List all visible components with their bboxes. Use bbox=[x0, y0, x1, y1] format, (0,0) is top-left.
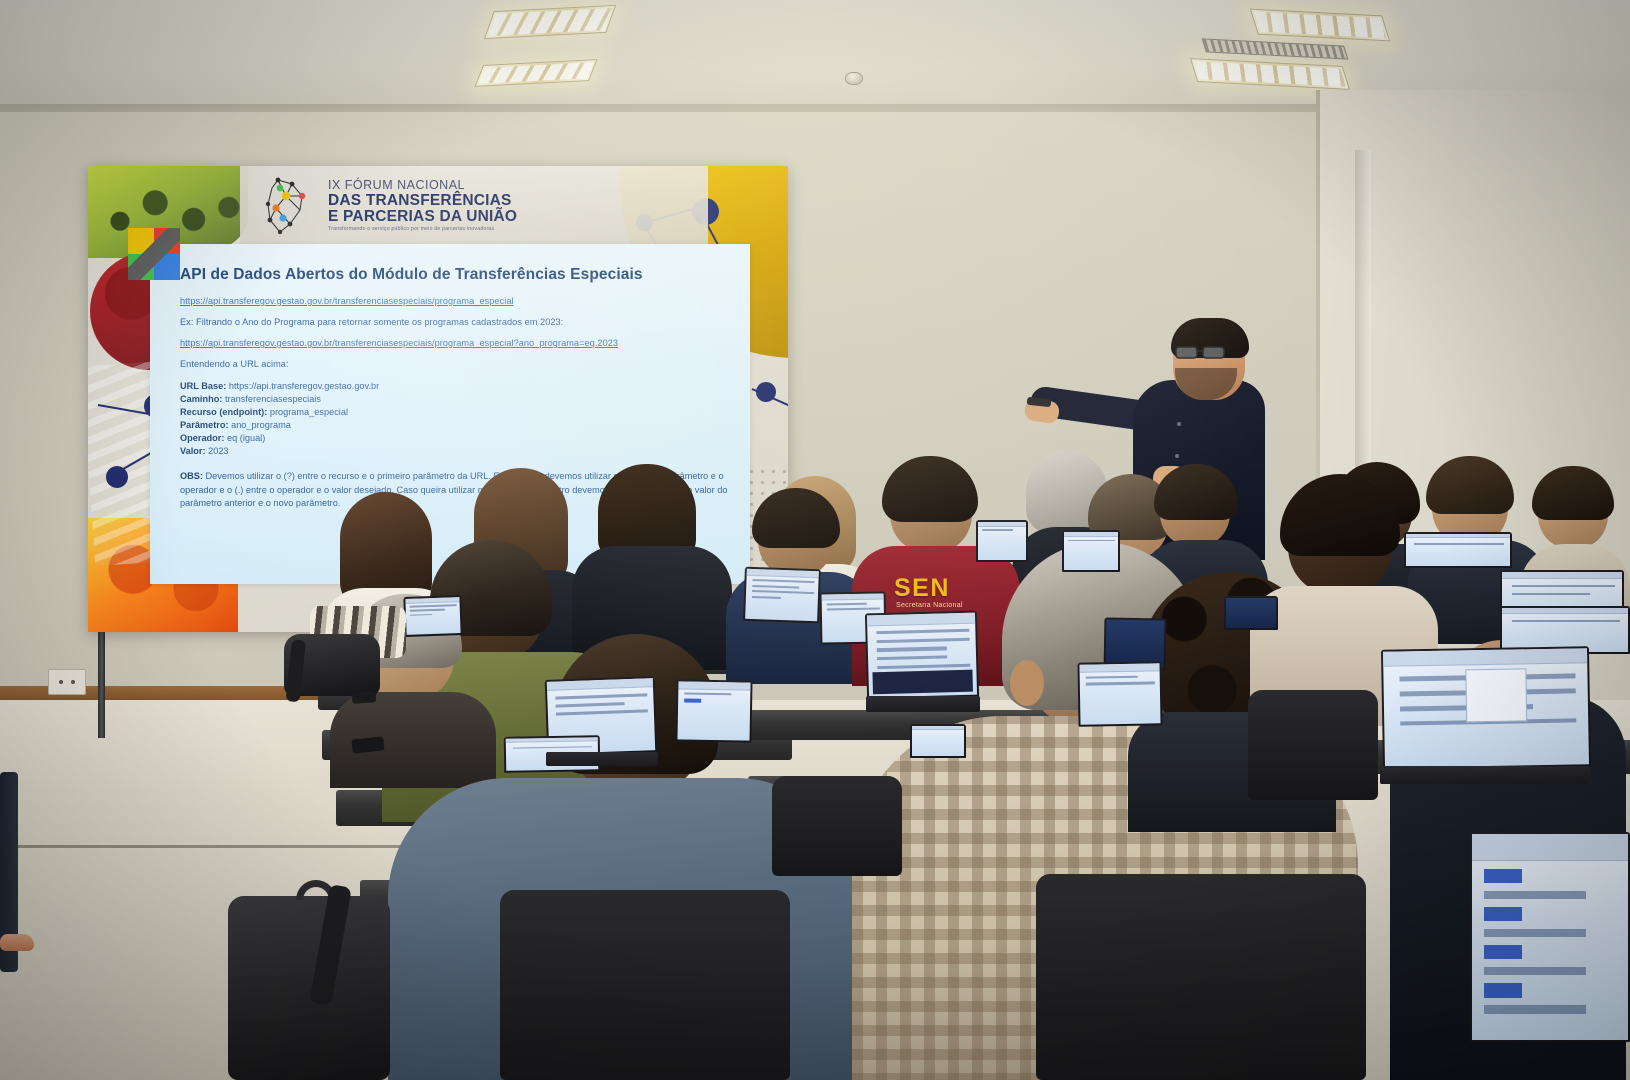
screen-text-line bbox=[1484, 1005, 1585, 1013]
explain-header: Entendendo a URL acima: bbox=[180, 359, 728, 369]
definition-row: URL Base: https://api.transferegov.gesta… bbox=[180, 380, 728, 393]
definition-row: Operador: eq (igual) bbox=[180, 432, 728, 445]
laptop-screen bbox=[1226, 598, 1276, 628]
screen-button bbox=[1484, 907, 1521, 921]
definition-label: Operador: bbox=[180, 433, 224, 443]
smartphone[interactable] bbox=[352, 691, 377, 704]
laptop-lid bbox=[910, 724, 966, 758]
laptop-screen bbox=[1406, 534, 1510, 566]
laptop-screen bbox=[745, 569, 819, 621]
brazil-network-map-icon bbox=[256, 174, 318, 238]
participant-hair bbox=[752, 488, 840, 548]
screen-text-line bbox=[827, 603, 867, 606]
definition-label: Recurso (endpoint): bbox=[180, 407, 267, 417]
laptop-lid bbox=[675, 679, 752, 742]
screen-button bbox=[684, 699, 701, 703]
laptop[interactable] bbox=[403, 595, 462, 637]
laptop-lid bbox=[865, 611, 979, 700]
banner-line-2: DAS TRANSFERÊNCIAS bbox=[328, 193, 517, 209]
definition-value: 2023 bbox=[208, 446, 228, 456]
definition-label: Parâmetro: bbox=[180, 420, 229, 430]
screen-button bbox=[1484, 983, 1521, 997]
browser-toolbar bbox=[747, 569, 819, 578]
laptop-screen bbox=[677, 681, 750, 740]
browser-toolbar bbox=[1502, 572, 1622, 579]
browser-toolbar bbox=[1383, 648, 1587, 667]
screen-text-line bbox=[1484, 967, 1585, 975]
browser-toolbar bbox=[978, 522, 1026, 527]
smoke-detector bbox=[845, 72, 863, 85]
wall-outlet bbox=[48, 669, 86, 695]
laptop[interactable] bbox=[976, 520, 1028, 562]
laptop-lid bbox=[1062, 530, 1120, 572]
banner-line-3: E PARCERIAS DA UNIÃO bbox=[328, 209, 517, 225]
screen-text-line bbox=[752, 596, 781, 599]
office-chair[interactable] bbox=[500, 890, 790, 1080]
laptop-lid bbox=[743, 567, 821, 624]
office-chair[interactable] bbox=[1248, 690, 1378, 800]
office-chair[interactable] bbox=[1036, 874, 1366, 1080]
screen-text-line bbox=[752, 579, 814, 583]
screen-text-line bbox=[876, 637, 969, 643]
terminal-panel bbox=[873, 670, 973, 694]
four-color-square-logo-icon bbox=[128, 228, 180, 280]
laptop-lid bbox=[1224, 596, 1278, 630]
laptop[interactable] bbox=[865, 611, 979, 700]
standing-person-shoe bbox=[0, 934, 34, 951]
definition-row: Recurso (endpoint): programa_especial bbox=[180, 406, 728, 419]
definition-value: https://api.transferegov.gestao.gov.br bbox=[229, 381, 379, 391]
laptop-screen bbox=[1064, 532, 1118, 570]
screen-text-line bbox=[877, 655, 947, 660]
laptop-keyboard[interactable] bbox=[546, 752, 658, 766]
definition-value: transferenciasespeciais bbox=[225, 394, 321, 404]
browser-toolbar bbox=[506, 737, 598, 743]
definition-label: Caminho: bbox=[180, 394, 222, 404]
shirt-button bbox=[1175, 454, 1179, 458]
definition-value: eq (igual) bbox=[227, 433, 265, 443]
screen-text-line bbox=[1086, 682, 1155, 686]
definition-label: URL Base: bbox=[180, 381, 226, 391]
example-description: Ex: Filtrando o Ano do Programa para ret… bbox=[180, 317, 728, 327]
browser-toolbar bbox=[1064, 532, 1118, 537]
laptop[interactable] bbox=[910, 724, 966, 758]
dialog-popup bbox=[1465, 668, 1527, 722]
network-node bbox=[756, 382, 776, 402]
glasses-icon bbox=[1175, 345, 1231, 359]
definition-value: ano_programa bbox=[231, 420, 291, 430]
conference-room-photo: TRANSFEREGOV bbox=[0, 0, 1630, 1080]
browser-toolbar bbox=[1406, 534, 1510, 538]
laptop[interactable] bbox=[675, 679, 752, 742]
screen-text-line bbox=[1414, 543, 1503, 544]
laptop-lid bbox=[1404, 532, 1512, 568]
screen-text-line bbox=[1068, 540, 1114, 542]
screen-text-line bbox=[827, 608, 880, 611]
laptop[interactable] bbox=[743, 567, 821, 624]
screen-text-line bbox=[876, 647, 946, 652]
browser-toolbar bbox=[1079, 663, 1159, 672]
browser-toolbar bbox=[912, 726, 964, 730]
laptop-screen bbox=[1472, 834, 1628, 1040]
screen-text-line bbox=[513, 746, 592, 749]
banner-text-block: IX FÓRUM NACIONAL DAS TRANSFERÊNCIAS E P… bbox=[328, 179, 517, 232]
screen-text-line bbox=[1086, 675, 1138, 678]
laptop-keyboard[interactable] bbox=[1380, 766, 1590, 784]
screen-text-line bbox=[1512, 620, 1620, 622]
laptop[interactable] bbox=[1404, 532, 1512, 568]
participant-hair bbox=[1280, 474, 1400, 556]
laptop[interactable] bbox=[1470, 832, 1630, 1042]
browser-toolbar bbox=[867, 613, 975, 626]
screen-text-line bbox=[410, 614, 432, 616]
backpack[interactable] bbox=[228, 896, 390, 1080]
laptop-screen bbox=[867, 613, 977, 698]
screen-text-line bbox=[1512, 585, 1615, 587]
screen-button bbox=[1484, 945, 1521, 959]
participant-hair bbox=[1154, 464, 1238, 520]
screen-text-line bbox=[556, 709, 647, 715]
participant-hair bbox=[882, 456, 978, 522]
screen-text-line bbox=[1484, 891, 1585, 899]
laptop-lid bbox=[976, 520, 1028, 562]
laptop[interactable] bbox=[1062, 530, 1120, 572]
laptop[interactable] bbox=[1077, 661, 1162, 726]
definition-row: Parâmetro: ano_programa bbox=[180, 419, 728, 432]
slide-title: API de Dados Abertos do Módulo de Transf… bbox=[180, 266, 728, 284]
screen-text-line bbox=[876, 629, 969, 635]
screen-text-line bbox=[556, 693, 647, 699]
participant-ear bbox=[1010, 660, 1044, 706]
laptop-lid bbox=[1470, 832, 1630, 1042]
event-banner: IX FÓRUM NACIONAL DAS TRANSFERÊNCIAS E P… bbox=[240, 166, 708, 246]
laptop-keyboard[interactable] bbox=[866, 696, 980, 712]
laptop[interactable] bbox=[1224, 596, 1278, 630]
laptop-lid bbox=[1381, 646, 1591, 770]
laptop-lid bbox=[1077, 661, 1162, 726]
screen-text-line bbox=[877, 663, 970, 669]
screen-text-line bbox=[752, 590, 814, 594]
office-chair[interactable] bbox=[772, 776, 902, 876]
browser-toolbar bbox=[1472, 834, 1628, 861]
screen-text-line bbox=[982, 529, 1013, 531]
screen-button bbox=[1484, 869, 1521, 883]
banner-line-1: IX FÓRUM NACIONAL bbox=[328, 179, 517, 192]
network-node bbox=[106, 466, 128, 488]
laptop-lid bbox=[403, 595, 462, 637]
definition-value: programa_especial bbox=[270, 407, 348, 417]
shirt-button bbox=[1177, 422, 1181, 426]
laptop-screen bbox=[978, 522, 1026, 560]
definition-label: Valor: bbox=[180, 446, 206, 456]
screen-text-line bbox=[556, 702, 625, 707]
laptop-screen bbox=[1502, 608, 1628, 652]
screen-text-line bbox=[684, 693, 731, 696]
screen-text-line bbox=[1512, 593, 1590, 595]
screen-text-line bbox=[752, 585, 799, 589]
browser-toolbar bbox=[1502, 608, 1628, 614]
screen-text-line bbox=[410, 609, 445, 612]
url-definitions-list: URL Base: https://api.transferegov.gesta… bbox=[180, 380, 728, 458]
definition-row: Valor: 2023 bbox=[180, 445, 728, 458]
laptop-screen bbox=[1383, 648, 1589, 768]
laptop-screen bbox=[912, 726, 964, 756]
api-link-base[interactable]: https://api.transferegov.gestao.gov.br/t… bbox=[180, 296, 728, 306]
browser-toolbar bbox=[822, 593, 884, 600]
observation-label: OBS: bbox=[180, 471, 203, 481]
browser-toolbar bbox=[547, 678, 653, 691]
laptop-screen bbox=[405, 597, 460, 635]
browser-toolbar bbox=[678, 681, 750, 690]
api-link-filtered[interactable]: https://api.transferegov.gestao.gov.br/t… bbox=[180, 338, 728, 348]
screen-text-line bbox=[410, 605, 456, 608]
screen-text-line bbox=[1484, 929, 1585, 937]
laptop-screen bbox=[1079, 663, 1160, 724]
banner-tagline: Transformando o serviço público por meio… bbox=[328, 227, 517, 232]
laptop[interactable] bbox=[1381, 646, 1591, 770]
definition-row: Caminho: transferenciasespeciais bbox=[180, 393, 728, 406]
browser-toolbar bbox=[405, 597, 459, 604]
participant-hair bbox=[1532, 466, 1614, 520]
